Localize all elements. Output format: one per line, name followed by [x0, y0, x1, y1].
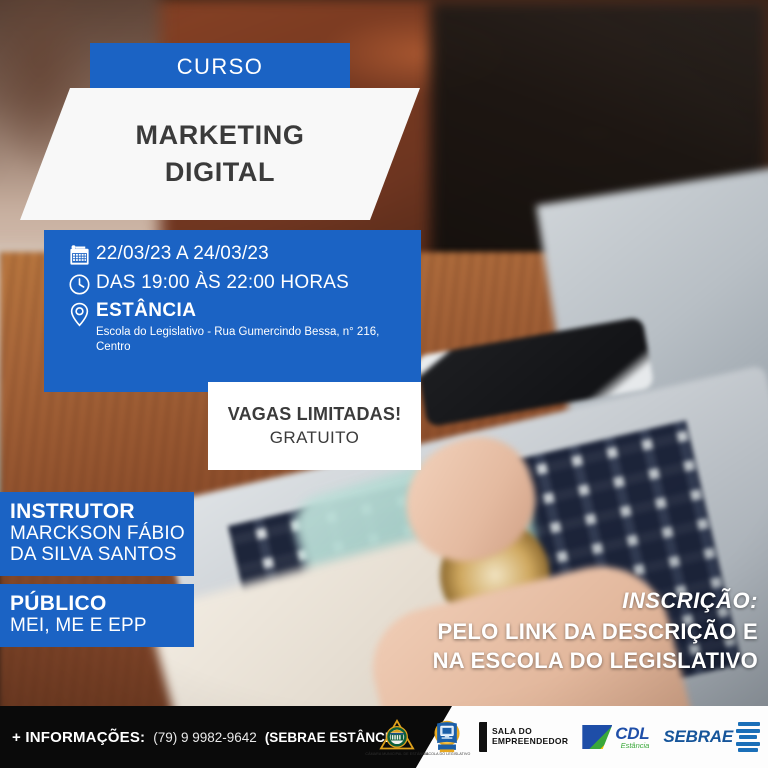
instructor-panel: INSTRUTOR MARCKSON FÁBIO DA SILVA SANTOS: [0, 492, 194, 576]
clock-icon: [62, 271, 96, 296]
partner-logos: CÂMARA MUNICIPAL DE ESTÂNCIA: [379, 706, 760, 768]
camara-seal-icon: CÂMARA MUNICIPAL DE ESTÂNCIA: [379, 719, 415, 755]
sala-logo-line-2: EMPREENDEDOR: [492, 737, 568, 747]
book-icon: [479, 722, 489, 752]
calendar-icon: [62, 242, 96, 267]
detail-row-time: DAS 19:00 ÀS 22:00 HORAS: [62, 271, 421, 296]
title-line-2: DIGITAL: [165, 157, 275, 188]
cdl-estancia-logo: CDL Estância: [582, 725, 649, 750]
audience-heading: PÚBLICO: [10, 592, 194, 616]
instructor-name-line-1: MARCKSON FÁBIO: [10, 524, 194, 545]
sebrae-logo-text: SEBRAE: [663, 727, 733, 747]
audience-value: MEI, ME E EPP: [10, 616, 194, 637]
availability-card: VAGAS LIMITADAS! GRATUITO: [208, 382, 421, 470]
detail-location-name: ESTÂNCIA: [96, 300, 396, 323]
audience-panel: PÚBLICO MEI, ME E EPP: [0, 584, 194, 647]
registration-block: INSCRIÇÃO: PELO LINK DA DESCRIÇÃO E NA E…: [238, 588, 758, 675]
instructor-name-line-2: DA SILVA SANTOS: [10, 545, 194, 566]
instructor-heading: INSTRUTOR: [10, 500, 194, 524]
detail-row-location: ESTÂNCIA Escola do Legislativo - Rua Gum…: [62, 300, 421, 356]
event-details-panel: 22/03/23 A 24/03/23 DAS 19:00 ÀS 22:00 H…: [44, 230, 421, 392]
cdl-logo-main: CDL: [615, 725, 649, 742]
detail-date-text: 22/03/23 A 24/03/23: [96, 242, 269, 266]
title-card: MARKETING DIGITAL: [20, 88, 420, 220]
camara-logo-caption: CÂMARA MUNICIPAL DE ESTÂNCIA: [365, 752, 428, 756]
availability-free-text: GRATUITO: [270, 428, 359, 448]
sala-do-empreendedor-logo: SALA DO EMPREENDEDOR: [479, 722, 568, 752]
footer-info-label: + INFORMAÇÕES:: [12, 729, 145, 746]
title-line-1: MARKETING: [136, 120, 305, 151]
registration-line-2: NA ESCOLA DO LEGISLATIVO: [238, 647, 758, 676]
escola-logo-caption: ESCOLA DO LEGISLATIVO: [423, 752, 470, 756]
cdl-swoosh-icon: [582, 725, 612, 749]
sala-logo-text: SALA DO EMPREENDEDOR: [492, 727, 568, 747]
escola-seal-icon: ESCOLA DO LEGISLATIVO: [429, 719, 465, 755]
detail-location-address: Escola do Legislativo - Rua Gumercindo B…: [96, 325, 396, 356]
cdl-logo-sub: Estância: [615, 742, 649, 750]
sebrae-bars-icon: [736, 722, 760, 752]
course-badge-label: CURSO: [177, 54, 263, 80]
registration-line-1: PELO LINK DA DESCRIÇÃO E: [238, 618, 758, 647]
escola-do-legislativo-logo: ESCOLA DO LEGISLATIVO: [429, 719, 465, 755]
detail-location-block: ESTÂNCIA Escola do Legislativo - Rua Gum…: [96, 300, 396, 356]
footer-bar: + INFORMAÇÕES: (79) 9 9982-9642 (SEBRAE …: [0, 706, 768, 768]
poster-canvas: CURSO MARKETING DIGITAL: [0, 0, 768, 768]
cdl-logo-text: CDL Estância: [615, 725, 649, 750]
footer-phone-number[interactable]: (79) 9 9982-9642: [153, 730, 257, 745]
footer-contact-info: + INFORMAÇÕES: (79) 9 9982-9642 (SEBRAE …: [12, 706, 403, 768]
availability-limited-text: VAGAS LIMITADAS!: [228, 404, 402, 425]
registration-heading: INSCRIÇÃO:: [238, 588, 758, 614]
sebrae-logo: SEBRAE: [663, 722, 760, 752]
detail-row-date: 22/03/23 A 24/03/23: [62, 242, 421, 267]
camara-municipal-estancia-logo: CÂMARA MUNICIPAL DE ESTÂNCIA: [379, 719, 415, 755]
detail-time-text: DAS 19:00 ÀS 22:00 HORAS: [96, 271, 349, 295]
course-badge: CURSO: [90, 43, 350, 90]
map-pin-icon: [62, 300, 96, 327]
